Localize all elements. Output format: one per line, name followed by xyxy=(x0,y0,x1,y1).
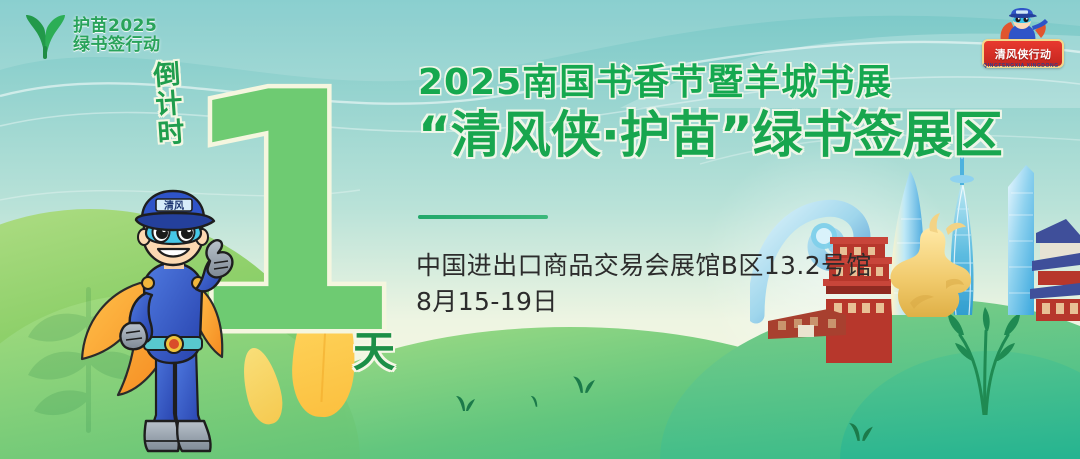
title-divider xyxy=(418,215,548,219)
headline-block: 2025南国书香节暨羊城书展 “清风侠·护苗”绿书签展区 xyxy=(418,62,1018,165)
venue-block: 中国进出口商品交易会展馆B区13.2号馆 8月15-19日 xyxy=(416,248,976,319)
venue-address: 中国进出口商品交易会展馆B区13.2号馆 xyxy=(416,248,976,284)
promo-banner: 护苗2025 绿书签行动 清风侠行动 xyxy=(0,0,1080,459)
countdown-unit: 天 xyxy=(353,318,395,379)
traditional-pavilion xyxy=(1030,219,1080,321)
grass-sprout-icon xyxy=(848,417,874,441)
event-title: 2025南国书香节暨羊城书展 xyxy=(418,62,1018,104)
badge-title: 清风侠行动 xyxy=(995,46,1052,62)
mascot-cap-text: 清风 xyxy=(164,199,184,212)
grass-sprout-icon xyxy=(572,371,596,393)
zone-title: “清风侠·护苗”绿书签展区 xyxy=(418,106,1018,165)
grass-sprout-icon xyxy=(530,392,546,407)
venue-dates: 8月15-19日 xyxy=(416,284,976,320)
qingfengxia-mascot: 清风 xyxy=(78,189,264,459)
grass-sprout-icon xyxy=(455,391,477,411)
hill-far-right xyxy=(840,351,1080,459)
